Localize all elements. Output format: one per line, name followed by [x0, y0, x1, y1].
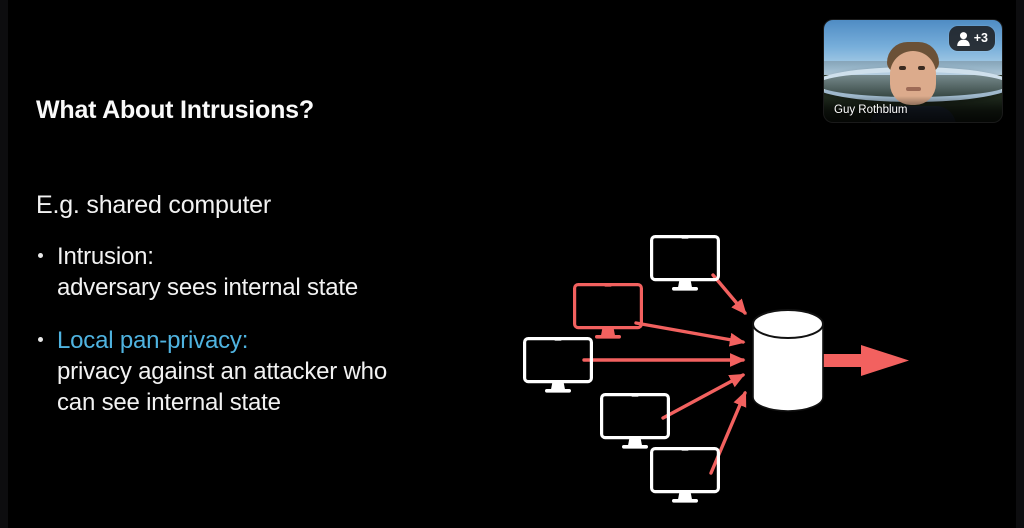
bullet-detail: adversary sees internal state	[57, 272, 496, 303]
monitor-node-left	[525, 339, 592, 393]
figure-eye-right	[918, 66, 925, 70]
slide-title: What About Intrusions?	[36, 96, 314, 125]
participant-name-label: Guy Rothblum	[834, 104, 908, 116]
edge-monitor-bottom-to-db	[711, 393, 745, 473]
monitor-node-bottom	[652, 449, 719, 503]
bullet-dot-icon	[38, 337, 43, 342]
edge-monitor-top-to-db	[713, 275, 745, 313]
database-output-arrow	[821, 345, 909, 376]
monitor-node-compromised	[575, 285, 642, 339]
edge-monitor-lower-to-db	[663, 375, 743, 418]
bullet-detail-line: can see internal state	[57, 387, 496, 418]
monitor-node-lower	[602, 395, 669, 449]
bullet-body: Intrusion: adversary sees internal state	[36, 241, 496, 303]
participant-count-label: +3	[974, 32, 988, 45]
edge-monitor-compromised-to-db	[636, 323, 743, 342]
video-participant-tile[interactable]: Guy Rothblum +3	[824, 20, 1002, 122]
bullet-list: Intrusion: adversary sees internal state…	[36, 241, 496, 440]
list-item: Local pan-privacy: privacy against an at…	[36, 325, 496, 418]
intrusion-dataflow-diagram	[505, 215, 935, 515]
person-icon	[956, 31, 971, 47]
bullet-detail: privacy against an attacker who can see …	[57, 356, 496, 418]
bullet-heading-accent: Local pan-privacy:	[57, 325, 496, 356]
database-cylinder-node	[753, 310, 823, 411]
bullet-body: Local pan-privacy: privacy against an at…	[36, 325, 496, 418]
monitor-node-top	[652, 237, 719, 291]
right-letterbox-band	[1016, 0, 1024, 528]
participant-count-badge[interactable]: +3	[949, 26, 995, 51]
left-letterbox-band	[0, 0, 8, 528]
figure-eye-left	[899, 66, 906, 70]
list-item: Intrusion: adversary sees internal state	[36, 241, 496, 303]
figure-mouth	[906, 87, 921, 91]
bullet-heading: Intrusion:	[57, 241, 496, 272]
bullet-detail-line: privacy against an attacker who	[57, 356, 496, 387]
presentation-slide: What About Intrusions? E.g. shared compu…	[0, 0, 1024, 528]
bullet-detail-line: adversary sees internal state	[57, 272, 496, 303]
bullet-dot-icon	[38, 253, 43, 258]
slide-lead-text: E.g. shared computer	[36, 191, 271, 220]
dataflow-arrows	[584, 275, 745, 473]
